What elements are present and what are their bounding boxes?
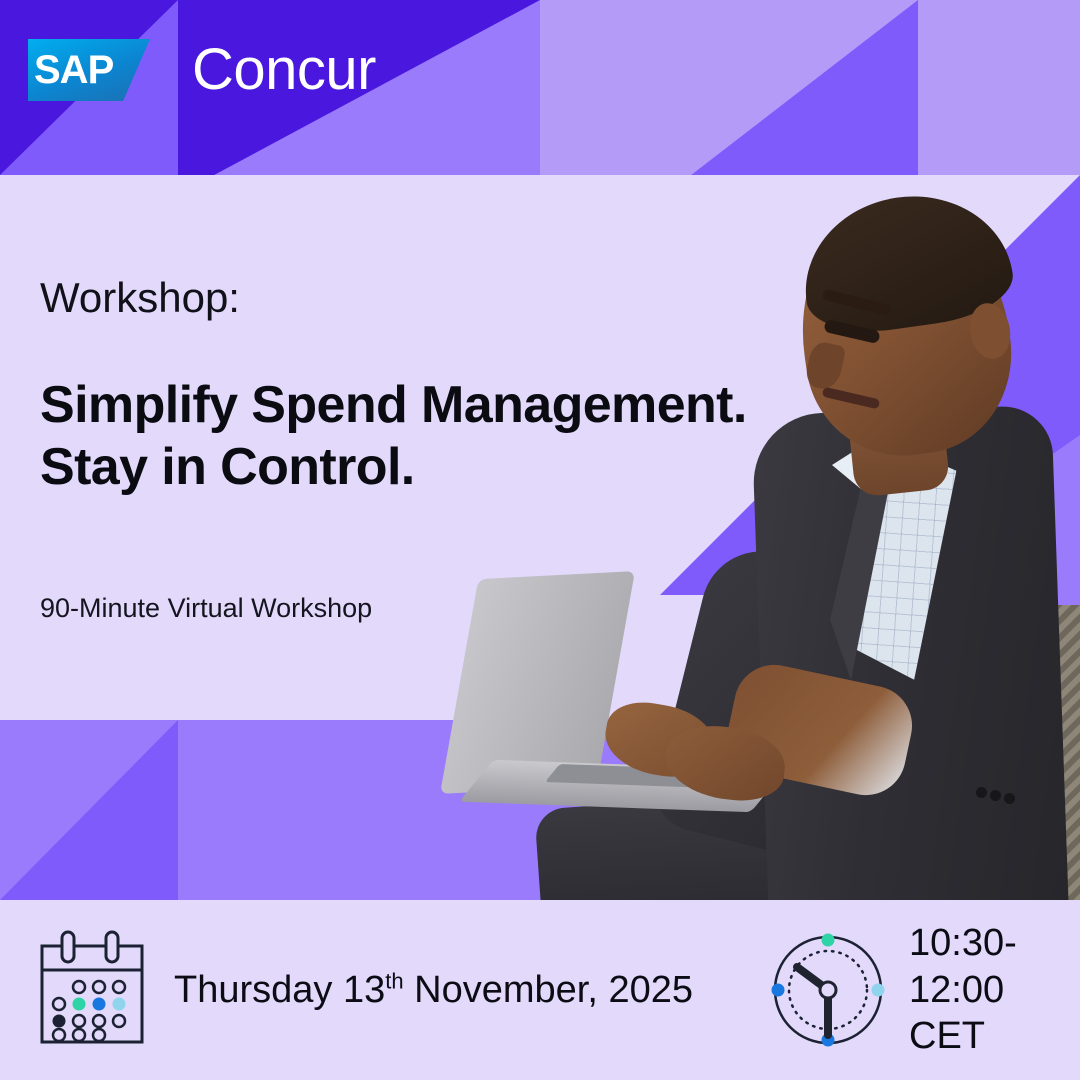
headline-line-2: Stay in Control.: [40, 437, 760, 498]
header-panel-3: [540, 0, 918, 175]
subtitle: 90-Minute Virtual Workshop: [40, 593, 372, 624]
header-triangle-3: [540, 0, 918, 175]
cuff-buttons: [976, 787, 987, 798]
sap-logo-text: SAP: [34, 50, 113, 90]
concur-wordmark: Concur: [192, 41, 376, 99]
brand-logo[interactable]: SAP Concur: [28, 30, 376, 110]
event-time: 10:30-12:00 CET: [909, 920, 1080, 1059]
sap-logo-icon: SAP: [28, 39, 150, 101]
bg-lower-square: [0, 720, 178, 900]
clock-icon: [769, 931, 887, 1049]
page-title: Simplify Spend Management. Stay in Contr…: [40, 375, 760, 498]
event-timezone: CET: [909, 1013, 1080, 1059]
headline-line-1: Simplify Spend Management.: [40, 376, 747, 434]
main-band: Workshop: Simplify Spend Management. Sta…: [0, 175, 1080, 900]
header-band: SAP Concur: [0, 0, 1080, 175]
event-date: Thursday 13th November, 2025: [174, 967, 693, 1013]
headline-block: Workshop: Simplify Spend Management. Sta…: [40, 275, 760, 498]
bg-lower-triangle: [0, 720, 178, 900]
promo-poster: SAP Concur: [0, 0, 1080, 1080]
footer-band: Thursday 13th November, 2025 10:30-12:00: [0, 900, 1080, 1080]
header-panel-4: [918, 0, 1080, 175]
event-date-month-year: November, 2025: [404, 969, 693, 1011]
eyebrow-label: Workshop:: [40, 275, 760, 321]
calendar-icon: [34, 930, 150, 1050]
event-date-day: Thursday 13: [174, 969, 385, 1011]
time-item: 10:30-12:00 CET: [769, 920, 1080, 1059]
event-date-ordinal: th: [385, 968, 403, 993]
date-item: Thursday 13th November, 2025: [34, 930, 693, 1050]
event-time-range: 10:30-12:00: [909, 920, 1080, 1013]
